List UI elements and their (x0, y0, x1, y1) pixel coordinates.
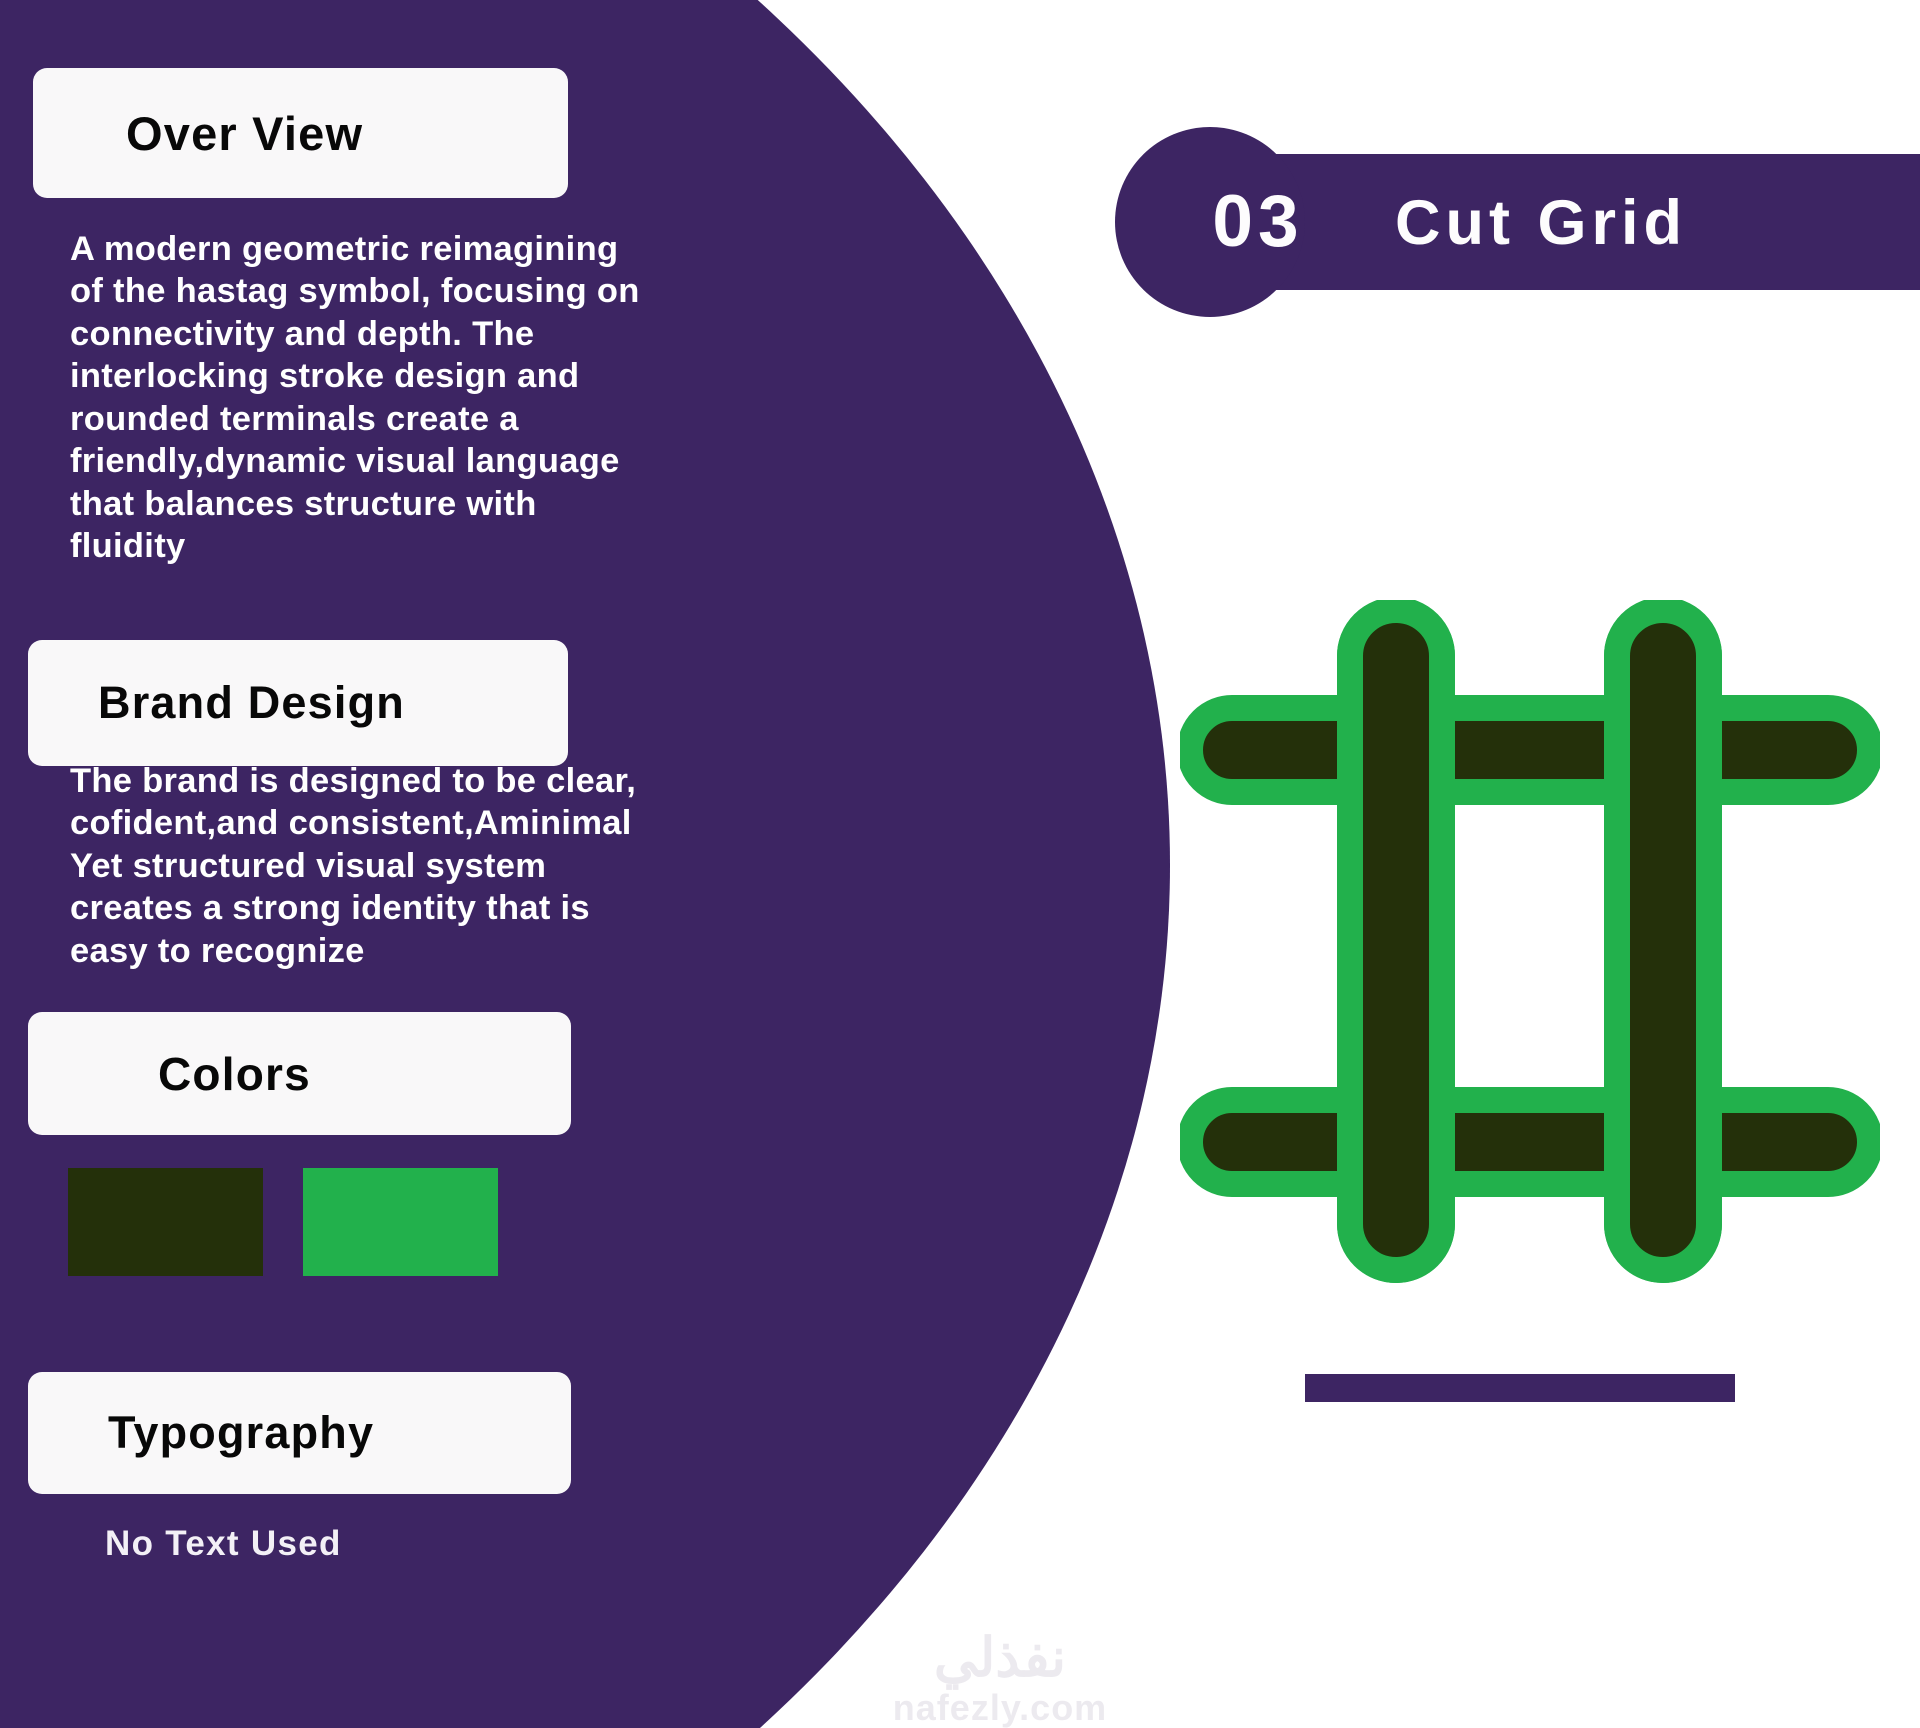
watermark: نفذلي nafezly.com (840, 1630, 1160, 1728)
color-swatch-row (68, 1168, 498, 1276)
overview-label: Over View (126, 106, 363, 161)
section-header-badge: 03 Cut Grid (1115, 127, 1920, 317)
color-swatch-brand-green (303, 1168, 498, 1276)
left-content-column: Over View A modern geometric reimagining… (28, 0, 728, 1728)
logo-bar-horizontal-bottom (1190, 1100, 1870, 1184)
logo-bar-vertical-right-overlay (1617, 610, 1709, 1270)
typography-label: Typography (108, 1407, 374, 1459)
section-number: 03 (1163, 177, 1353, 267)
logo-bar-vertical-left-overlay (1350, 610, 1442, 1270)
colors-label-card: Colors (28, 1012, 571, 1135)
watermark-latin: nafezly.com (840, 1686, 1160, 1728)
typography-note: No Text Used (105, 1524, 342, 1564)
brand-design-body-text: The brand is designed to be clear, cofid… (70, 760, 790, 972)
logo-svg (1180, 600, 1880, 1300)
brand-design-label: Brand Design (98, 677, 405, 729)
footer-accent-bar (1305, 1374, 1735, 1402)
logo-bar-horizontal-top (1190, 708, 1870, 792)
watermark-arabic: نفذلي (840, 1630, 1160, 1686)
overview-body-text: A modern geometric reimagining of the ha… (70, 228, 790, 567)
cut-grid-hashtag-logo (1180, 600, 1880, 1300)
section-title: Cut Grid (1395, 179, 1687, 267)
colors-label: Colors (158, 1047, 311, 1101)
brand-design-label-card: Brand Design (28, 640, 568, 766)
color-swatch-dark-olive (68, 1168, 263, 1276)
slide-canvas: Over View A modern geometric reimagining… (0, 0, 1920, 1728)
typography-label-card: Typography (28, 1372, 571, 1494)
overview-label-card: Over View (33, 68, 568, 198)
